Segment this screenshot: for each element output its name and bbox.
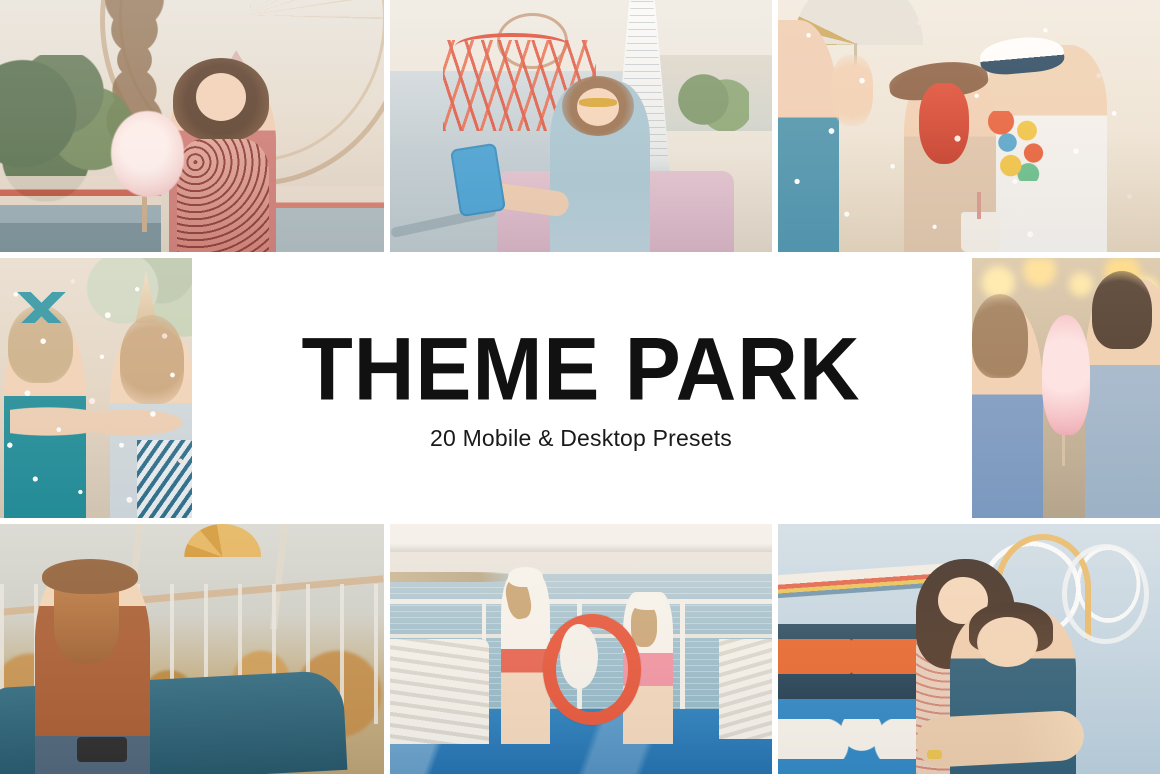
- photo-tile-middle-right: [972, 258, 1160, 518]
- photo-4-art: [0, 258, 196, 518]
- photo-tile-bottom-center: [390, 524, 772, 774]
- page-title: THEME PARK: [301, 324, 860, 413]
- photo-1-art: [0, 0, 384, 252]
- photo-3-art: [778, 0, 1160, 252]
- photo-tile-top-center: [390, 0, 772, 252]
- photo-8-art: [778, 524, 1160, 774]
- photo-tile-bottom-right: [778, 524, 1160, 774]
- page-subtitle: 20 Mobile & Desktop Presets: [430, 427, 732, 450]
- photo-tile-bottom-left: [0, 524, 384, 774]
- photo-tile-top-left: [0, 0, 384, 252]
- photo-7-art: [390, 524, 772, 774]
- poster-canvas: THEME PARK 20 Mobile & Desktop Presets: [0, 0, 1160, 774]
- photo-5-art: [972, 258, 1160, 518]
- photo-tile-top-right: [778, 0, 1160, 252]
- photo-6-art: [0, 524, 384, 774]
- photo-2-art: [390, 0, 772, 252]
- photo-tile-middle-left: [0, 258, 196, 518]
- title-card: THEME PARK 20 Mobile & Desktop Presets: [192, 258, 970, 518]
